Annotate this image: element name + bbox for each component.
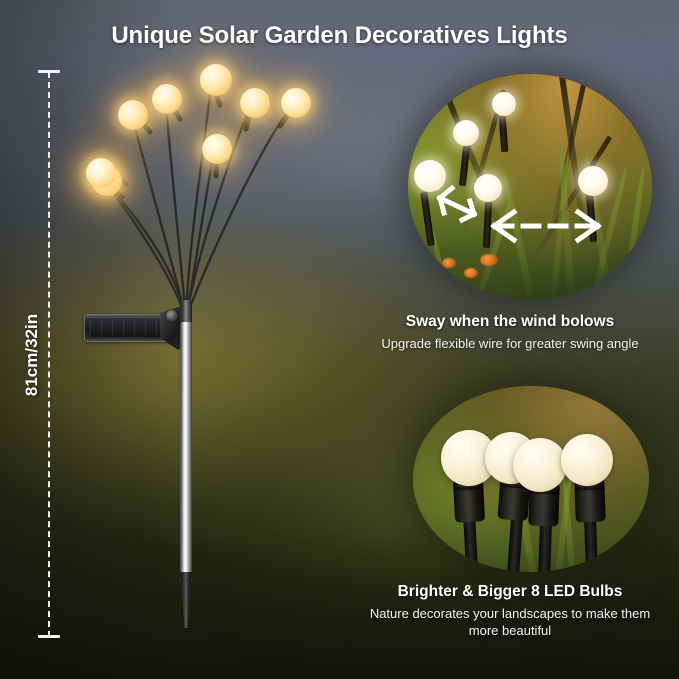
product-infographic: Unique Solar Garden Decoratives Lights 8… [0, 0, 679, 679]
caption-bulbs: Brighter & Bigger 8 LED Bulbs Nature dec… [350, 583, 670, 639]
led-bulb [281, 88, 311, 118]
lamp-pole [180, 322, 192, 582]
feature-image-sway [408, 74, 652, 300]
led-bulb-closeup [513, 438, 567, 492]
feature-image-bulbs [413, 386, 649, 572]
led-bulb-closeup [561, 434, 613, 486]
caption-sway: Sway when the wind bolows Upgrade flexib… [350, 313, 670, 352]
dashed-double-headed-arrow-icon [494, 212, 598, 240]
led-bulb [86, 158, 116, 188]
lamp-wires [0, 0, 400, 679]
bulb-rod [538, 520, 552, 572]
led-bulb [202, 134, 232, 164]
joint-knob [166, 310, 178, 322]
caption-sway-heading: Sway when the wind bolows [350, 313, 670, 331]
led-bulb [240, 88, 270, 118]
led-bulb [152, 84, 182, 114]
caption-sway-subtext: Upgrade flexible wire for greater swing … [350, 335, 670, 352]
double-headed-arrow-icon [440, 188, 474, 220]
led-bulb [200, 64, 232, 96]
led-bulb [118, 100, 148, 130]
product-lamp [0, 0, 400, 679]
caption-bulbs-heading: Brighter & Bigger 8 LED Bulbs [350, 583, 670, 601]
caption-bulbs-subtext: Nature decorates your landscapes to make… [365, 605, 655, 639]
sway-arrows [408, 74, 652, 300]
bulb-rod [584, 514, 598, 572]
